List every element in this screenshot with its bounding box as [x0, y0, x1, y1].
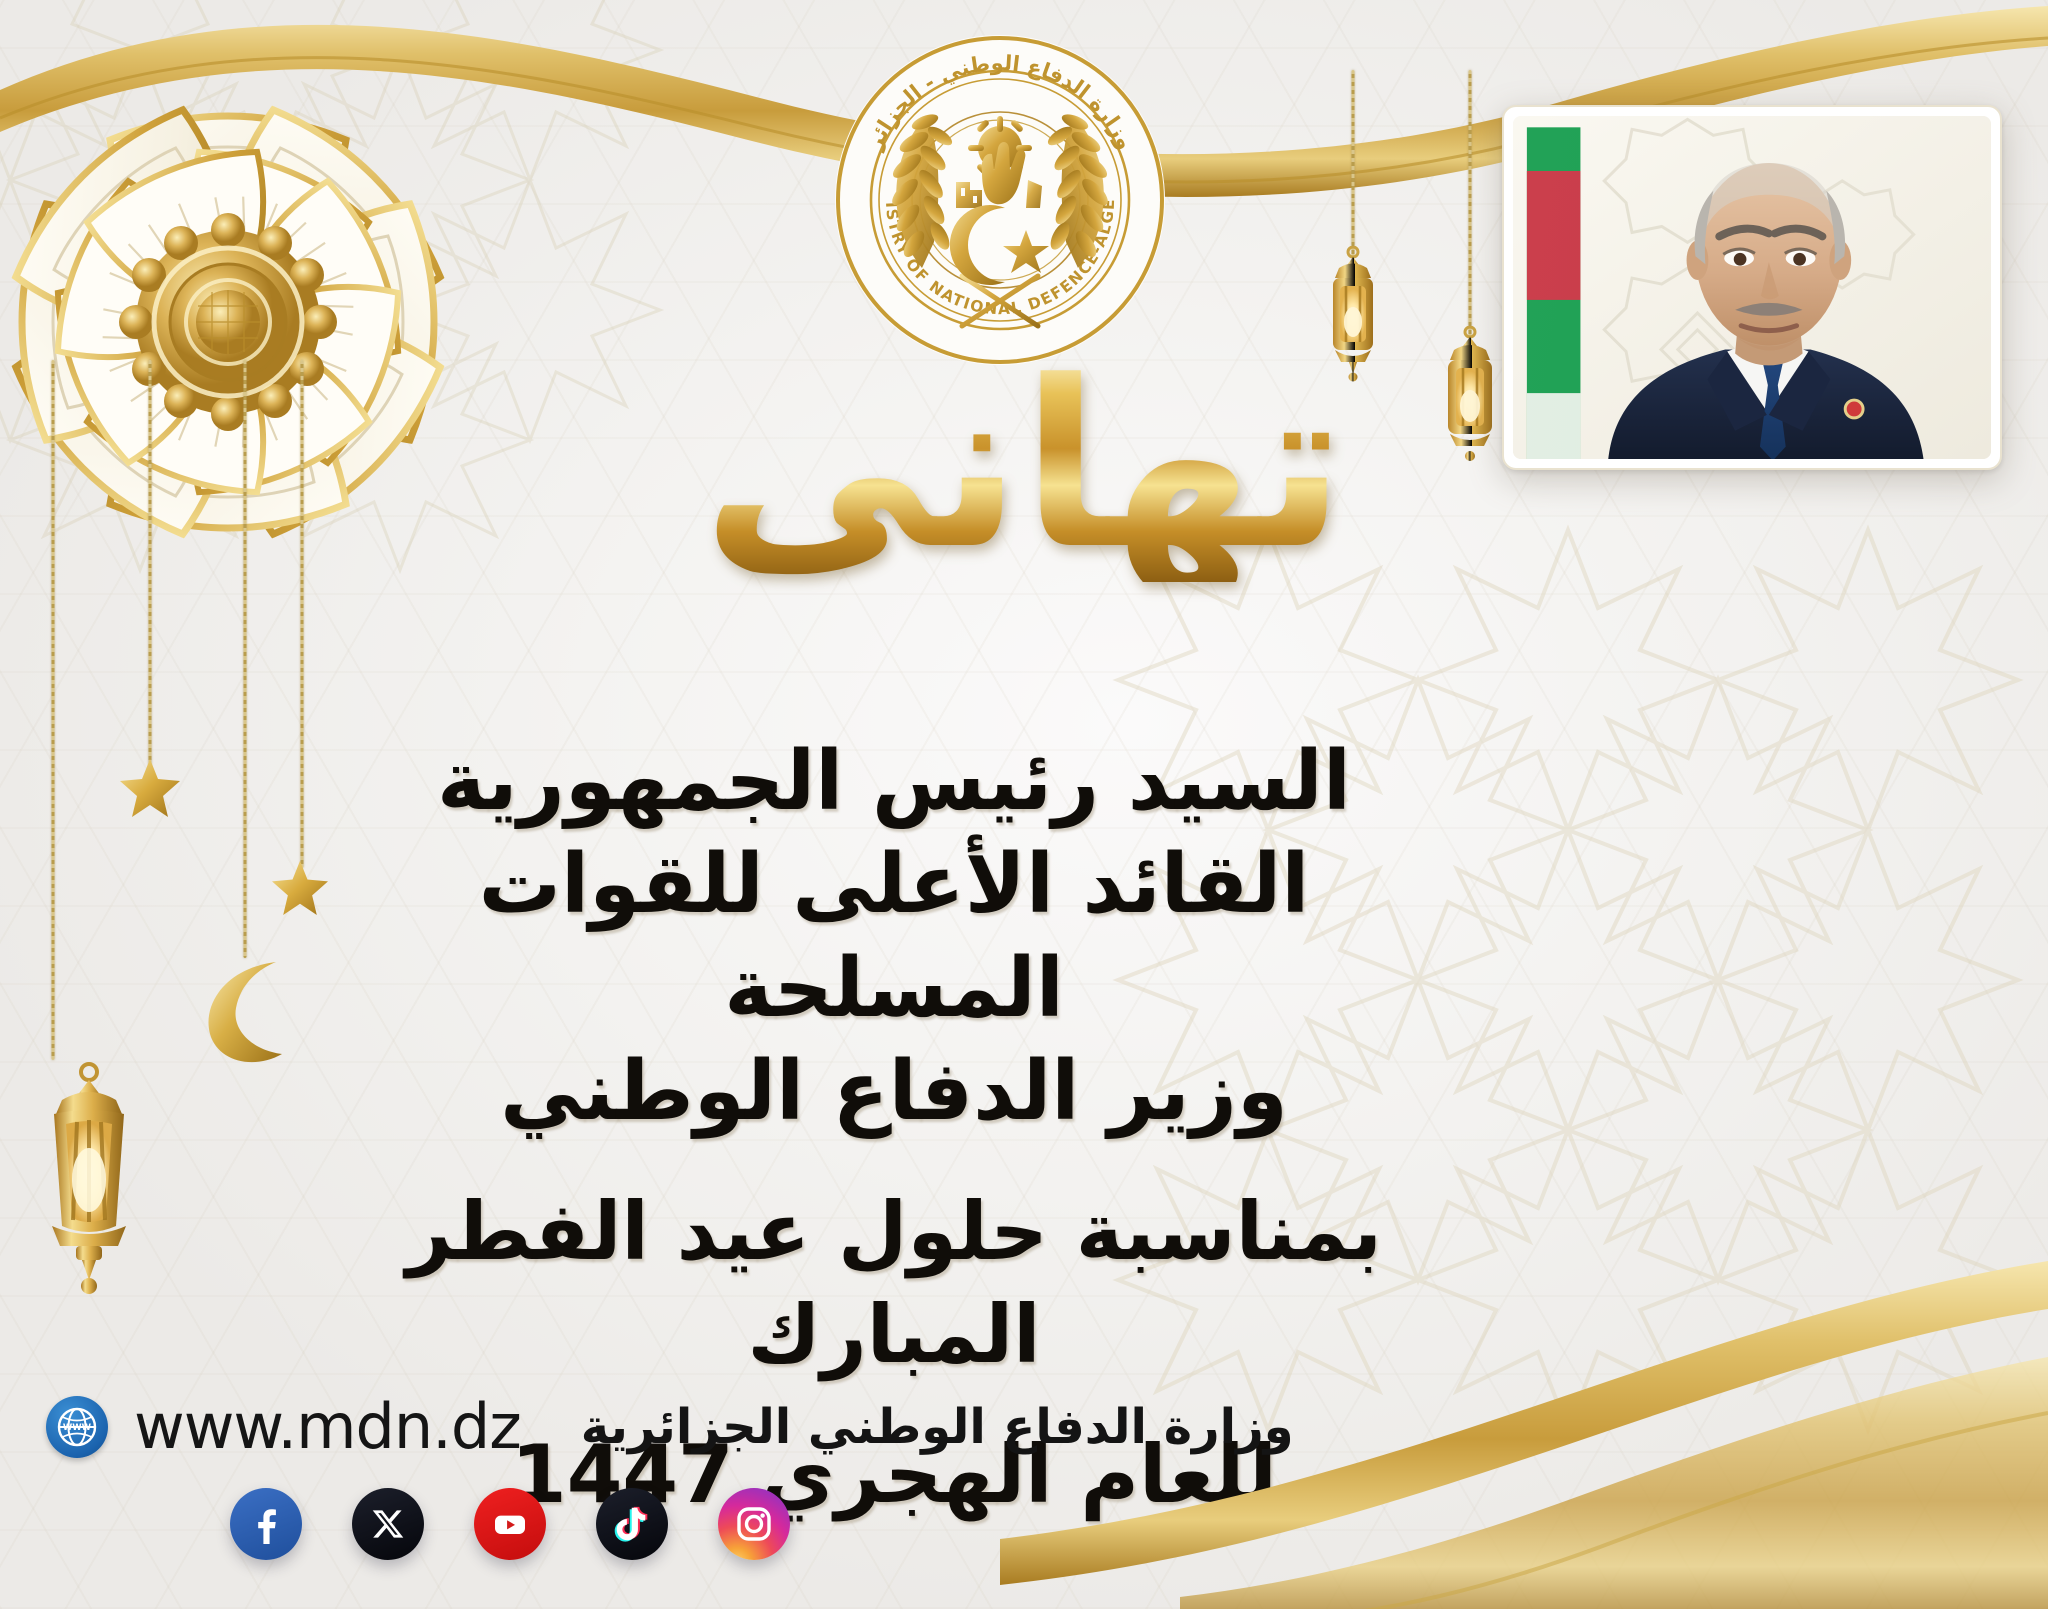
message-line-4: بمناسبة حلول عيد الفطر المبارك: [300, 1181, 1488, 1386]
instagram-icon[interactable]: [718, 1488, 790, 1560]
crescent-moon-icon: [196, 950, 306, 1070]
youtube-glyph: [490, 1504, 530, 1544]
tiktok-glyph: [614, 1506, 650, 1542]
x-glyph: [371, 1507, 405, 1541]
lantern-chain-1: [1352, 70, 1355, 256]
ministry-name-label: وزارة الدفاع الوطني الجزائرية: [581, 1399, 1294, 1455]
footer-contact-row: WWW www.mdn.dz وزارة الدفاع الوطني الجزا…: [46, 1390, 1294, 1463]
page-title-greeting: تهاني: [0, 352, 2048, 582]
social-links-row: [230, 1488, 790, 1560]
message-line-2: القائد الأعلى للقوات المسلحة: [300, 833, 1488, 1040]
star-icon-1: [120, 756, 180, 818]
globe-icon: WWW: [46, 1396, 108, 1458]
standing-lantern-icon: [24, 1060, 154, 1310]
instagram-glyph: [734, 1504, 774, 1544]
youtube-icon[interactable]: [474, 1488, 546, 1560]
greeting-card: وزارة الدفاع الوطني - الجزائر MINISTRY O…: [0, 0, 2048, 1609]
website-url[interactable]: www.mdn.dz: [134, 1390, 521, 1463]
message-line-1: السيد رئيس الجمهورية: [300, 730, 1488, 833]
lantern-chain-2: [1469, 70, 1472, 336]
facebook-glyph: [246, 1504, 286, 1544]
facebook-icon[interactable]: [230, 1488, 302, 1560]
ministry-emblem: وزارة الدفاع الوطني - الجزائر MINISTRY O…: [830, 30, 1170, 370]
x-twitter-icon[interactable]: [352, 1488, 424, 1560]
globe-www-label: WWW: [63, 1423, 92, 1433]
message-line-3: وزير الدفاع الوطني: [300, 1040, 1488, 1143]
globe-www-icon: WWW: [55, 1405, 99, 1449]
ministry-emblem-seal-icon: وزارة الدفاع الوطني - الجزائر MINISTRY O…: [830, 30, 1170, 370]
tiktok-icon[interactable]: [596, 1488, 668, 1560]
